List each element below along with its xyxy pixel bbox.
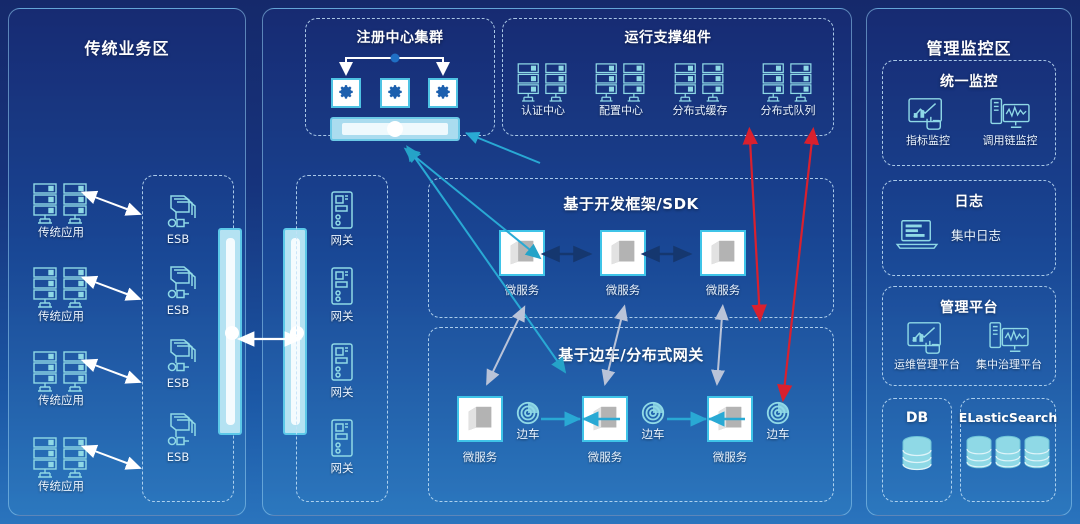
logging-item-label: 集中日志	[951, 225, 1001, 244]
legacy-app-3[interactable]: 传统应用	[18, 350, 104, 408]
esb-icon	[158, 263, 198, 303]
sdk-service-1[interactable]: 微服务	[477, 230, 567, 298]
esb-icon	[158, 336, 198, 376]
microservice-box[interactable]	[707, 396, 753, 442]
microservice-box[interactable]	[600, 230, 646, 276]
database-cylinder-icon	[964, 431, 1052, 477]
microservice-box[interactable]	[499, 230, 545, 276]
sidecar-3[interactable]: 边车	[758, 400, 798, 442]
sidecar-title: 基于边车/分布式网关	[429, 344, 833, 365]
legacy-app-label: 传统应用	[38, 308, 84, 324]
monitoring-item-1[interactable]: 指标监控	[888, 96, 968, 148]
storage-elasticsearch: ELasticSearch	[960, 410, 1056, 477]
cube-icon	[708, 238, 738, 268]
sidecar-service-label: 微服务	[463, 449, 498, 465]
platform-title: 管理平台	[883, 297, 1055, 317]
sdk-service-label: 微服务	[706, 282, 741, 298]
platform-item-2[interactable]: 集中治理平台	[966, 320, 1052, 372]
gear-icon	[337, 84, 355, 102]
cube-icon	[465, 404, 495, 434]
gateway-node-4[interactable]: 网关	[312, 418, 372, 476]
esb-label: ESB	[167, 450, 189, 464]
esb-service-bus[interactable]	[218, 228, 242, 435]
support-item-3[interactable]: 分布式缓存	[657, 62, 743, 118]
logging-item-1[interactable]: 集中日志	[895, 216, 1045, 252]
trace-monitor-icon	[987, 320, 1031, 356]
support-item-label: 认证中心	[521, 102, 565, 118]
support-item-label: 配置中心	[599, 102, 643, 118]
registry-title: 注册中心集群	[306, 27, 494, 47]
sidecar-service-label: 微服务	[588, 449, 623, 465]
microservice-box[interactable]	[700, 230, 746, 276]
support-item-1[interactable]: 认证中心	[505, 62, 581, 118]
esb-node-2[interactable]: ESB	[148, 263, 208, 317]
sdk-service-label: 微服务	[606, 282, 641, 298]
support-item-label: 分布式队列	[761, 102, 816, 118]
server-pair-icon	[516, 62, 570, 102]
sidecar-label: 边车	[642, 426, 665, 442]
sidecar-2[interactable]: 边车	[633, 400, 673, 442]
platform-item-label: 集中治理平台	[976, 356, 1042, 372]
server-pair-icon	[673, 62, 727, 102]
microservice-box[interactable]	[582, 396, 628, 442]
architecture-diagram: 传统业务区 传统应用 传统应用	[0, 0, 1080, 524]
server-pair-icon	[761, 62, 815, 102]
sidecar-spiral-icon	[515, 400, 541, 426]
server-stack-icon	[31, 266, 91, 308]
esb-icon	[158, 410, 198, 450]
esb-label: ESB	[167, 376, 189, 390]
legacy-app-label: 传统应用	[38, 478, 84, 494]
sidecar-label: 边车	[517, 426, 540, 442]
registry-node-1[interactable]	[331, 78, 361, 108]
registry-node-3[interactable]	[428, 78, 458, 108]
sidecar-service-2[interactable]: 微服务	[580, 396, 630, 465]
storage-db: DB	[882, 410, 952, 478]
sdk-service-2[interactable]: 微服务	[578, 230, 668, 298]
sidecar-service-1[interactable]: 微服务	[455, 396, 505, 465]
gateway-icon	[327, 266, 357, 308]
esb-label: ESB	[167, 303, 189, 317]
gateway-node-1[interactable]: 网关	[312, 190, 372, 248]
esb-icon	[158, 192, 198, 232]
gateway-icon	[327, 418, 357, 460]
server-pair-icon	[594, 62, 648, 102]
laptop-log-icon	[895, 216, 939, 252]
sidecar-spiral-icon	[765, 400, 791, 426]
logging-title: 日志	[883, 191, 1055, 211]
monitoring-item-2[interactable]: 调用链监控	[967, 96, 1053, 148]
platform-item-label: 运维管理平台	[894, 356, 960, 372]
cube-icon	[507, 238, 537, 268]
sdk-service-3[interactable]: 微服务	[678, 230, 768, 298]
support-item-4[interactable]: 分布式队列	[745, 62, 831, 118]
gateway-node-3[interactable]: 网关	[312, 342, 372, 400]
server-stack-icon	[31, 350, 91, 392]
support-item-label: 分布式缓存	[673, 102, 728, 118]
server-stack-icon	[31, 182, 91, 224]
cube-icon	[715, 404, 745, 434]
legacy-app-4[interactable]: 传统应用	[18, 436, 104, 494]
gear-icon	[386, 84, 404, 102]
monitoring-item-label: 调用链监控	[983, 132, 1038, 148]
microservice-box[interactable]	[457, 396, 503, 442]
gear-icon	[434, 84, 452, 102]
registry-load-balancer[interactable]	[330, 117, 460, 141]
sdk-service-label: 微服务	[505, 282, 540, 298]
storage-db-label: DB	[906, 410, 928, 426]
sidecar-1[interactable]: 边车	[508, 400, 548, 442]
slider-knob[interactable]	[387, 121, 403, 137]
sidecar-spiral-icon	[640, 400, 666, 426]
esb-node-3[interactable]: ESB	[148, 336, 208, 390]
sidecar-service-3[interactable]: 微服务	[705, 396, 755, 465]
monitoring-item-label: 指标监控	[906, 132, 950, 148]
platform-item-1[interactable]: 运维管理平台	[884, 320, 970, 372]
esb-node-1[interactable]: ESB	[148, 192, 208, 246]
legacy-app-1[interactable]: 传统应用	[18, 182, 104, 240]
metrics-dashboard-icon	[905, 320, 949, 356]
gateway-icon	[327, 342, 357, 384]
legacy-app-2[interactable]: 传统应用	[18, 266, 104, 324]
server-stack-icon	[31, 436, 91, 478]
database-cylinder-icon	[896, 432, 938, 478]
gateway-label: 网关	[331, 232, 354, 248]
gateway-node-2[interactable]: 网关	[312, 266, 372, 324]
legacy-app-label: 传统应用	[38, 392, 84, 408]
legacy-zone-title: 传统业务区	[9, 35, 245, 59]
gateway-icon	[327, 190, 357, 232]
gateway-label: 网关	[331, 460, 354, 476]
gateway-label: 网关	[331, 384, 354, 400]
trace-monitor-icon	[988, 96, 1032, 132]
cube-icon	[590, 404, 620, 434]
bus-connector-dot	[225, 326, 239, 340]
legacy-app-label: 传统应用	[38, 224, 84, 240]
support-item-2[interactable]: 配置中心	[583, 62, 659, 118]
gateway-label: 网关	[331, 308, 354, 324]
metrics-dashboard-icon	[906, 96, 950, 132]
esb-label: ESB	[167, 232, 189, 246]
storage-es-label: ELasticSearch	[959, 410, 1057, 425]
sidecar-label: 边车	[767, 426, 790, 442]
sdk-title: 基于开发框架/SDK	[429, 193, 833, 214]
esb-node-4[interactable]: ESB	[148, 410, 208, 464]
registry-node-2[interactable]	[380, 78, 410, 108]
sidecar-service-label: 微服务	[713, 449, 748, 465]
management-zone-title: 管理监控区	[867, 35, 1071, 59]
monitoring-title: 统一监控	[883, 71, 1055, 91]
cube-icon	[608, 238, 638, 268]
support-components-title: 运行支撑组件	[503, 27, 833, 47]
